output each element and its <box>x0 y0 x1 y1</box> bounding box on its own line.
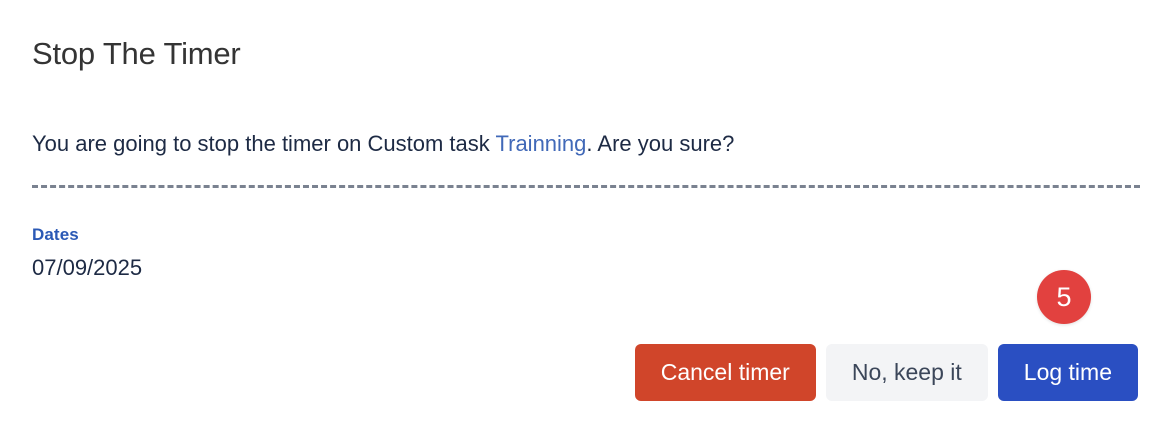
log-time-button[interactable]: Log time <box>998 344 1138 401</box>
message-text-after-link: . Are you sure? <box>586 131 734 156</box>
dates-field: Dates 07/09/2025 <box>32 224 142 282</box>
dates-label: Dates <box>32 224 142 246</box>
step-badge: 5 <box>1037 270 1091 324</box>
page-title: Stop The Timer <box>32 33 241 75</box>
custom-task-link[interactable]: Trainning <box>496 131 587 156</box>
dates-value: 07/09/2025 <box>32 254 142 282</box>
no-keep-it-button[interactable]: No, keep it <box>826 344 988 401</box>
cancel-timer-button[interactable]: Cancel timer <box>635 344 816 401</box>
message-text-before-link: You are going to stop the timer on Custo… <box>32 131 496 156</box>
dashed-divider <box>32 185 1140 188</box>
dialog-message: You are going to stop the timer on Custo… <box>32 128 734 160</box>
dialog-actions: Cancel timer No, keep it Log time <box>0 344 1138 401</box>
stop-timer-dialog: Stop The Timer You are going to stop the… <box>0 0 1170 440</box>
